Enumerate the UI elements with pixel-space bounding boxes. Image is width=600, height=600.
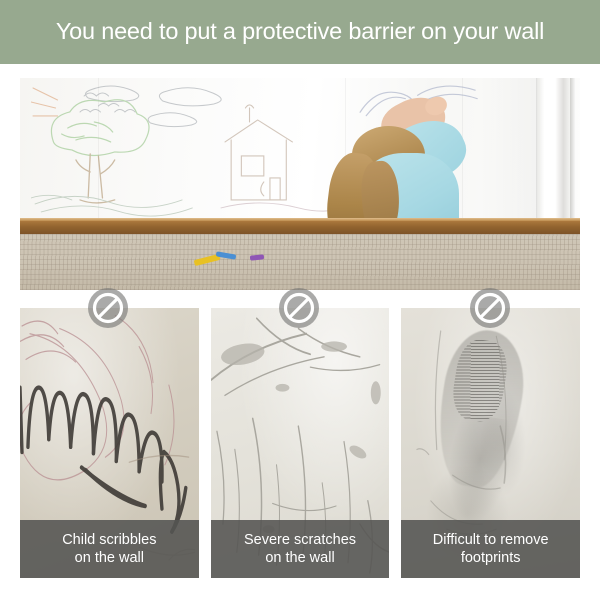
page-title: You need to put a protective barrier on …	[56, 20, 544, 44]
caption-line-2: on the wall	[265, 549, 334, 567]
panel-caption: Difficult to remove footprints	[401, 520, 580, 578]
caption-line-2: on the wall	[75, 549, 144, 567]
prohibition-icon	[87, 287, 129, 329]
prohibition-icon-glyph	[469, 287, 511, 329]
promotional-infographic: You need to put a protective barrier on …	[0, 0, 600, 600]
caption-line-1: Severe scratches	[244, 531, 356, 549]
prohibition-icon-glyph	[87, 287, 129, 329]
door-casing	[536, 78, 570, 231]
panel-caption: Severe scratches on the wall	[211, 520, 390, 578]
carpet-floor	[20, 234, 580, 290]
hero-photo	[20, 78, 580, 290]
panel-caption: Child scribbles on the wall	[20, 520, 199, 578]
damage-panels: Child scribbles on the wall	[20, 308, 580, 578]
prohibition-icon	[469, 287, 511, 329]
caption-line-1: Difficult to remove	[433, 531, 549, 549]
prohibition-icon	[278, 287, 320, 329]
baseboard	[20, 218, 580, 234]
hero-scene	[20, 78, 580, 290]
door-casing-edge	[570, 78, 576, 231]
panel-child-scribbles[interactable]: Child scribbles on the wall	[20, 308, 199, 578]
panel-difficult-footprints[interactable]: Difficult to remove footprints	[401, 308, 580, 578]
caption-line-2: footprints	[461, 549, 521, 567]
header-banner: You need to put a protective barrier on …	[0, 0, 600, 64]
prohibition-icon-glyph	[278, 287, 320, 329]
caption-line-1: Child scribbles	[62, 531, 156, 549]
panel-severe-scratches[interactable]: Severe scratches on the wall	[211, 308, 390, 578]
baseboard-highlight	[20, 218, 580, 221]
